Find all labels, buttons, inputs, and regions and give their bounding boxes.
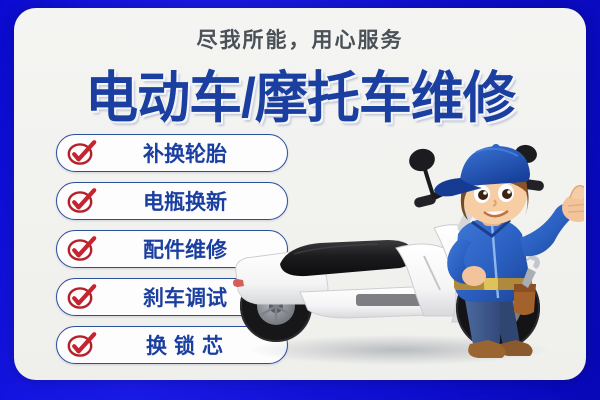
check-circle-icon (67, 188, 97, 214)
check-circle-icon (67, 284, 97, 310)
check-circle-icon (67, 332, 97, 358)
check-circle-icon (67, 236, 97, 262)
scooter-mechanic-illustration (228, 136, 584, 374)
mechanic-left-hand (462, 266, 486, 286)
poster-root: 尽我所能，用心服务 电动车/摩托车维修 补换轮胎 (0, 0, 600, 400)
content-card: 尽我所能，用心服务 电动车/摩托车维修 补换轮胎 (14, 8, 586, 380)
check-circle-icon (67, 140, 97, 166)
page-title: 电动车/摩托车维修 (14, 54, 586, 134)
tail-light (233, 279, 244, 287)
left-mirror (406, 146, 437, 198)
footboard-mat (356, 294, 426, 306)
mechanic (434, 144, 584, 358)
subtitle-text: 尽我所能，用心服务 (14, 24, 586, 54)
